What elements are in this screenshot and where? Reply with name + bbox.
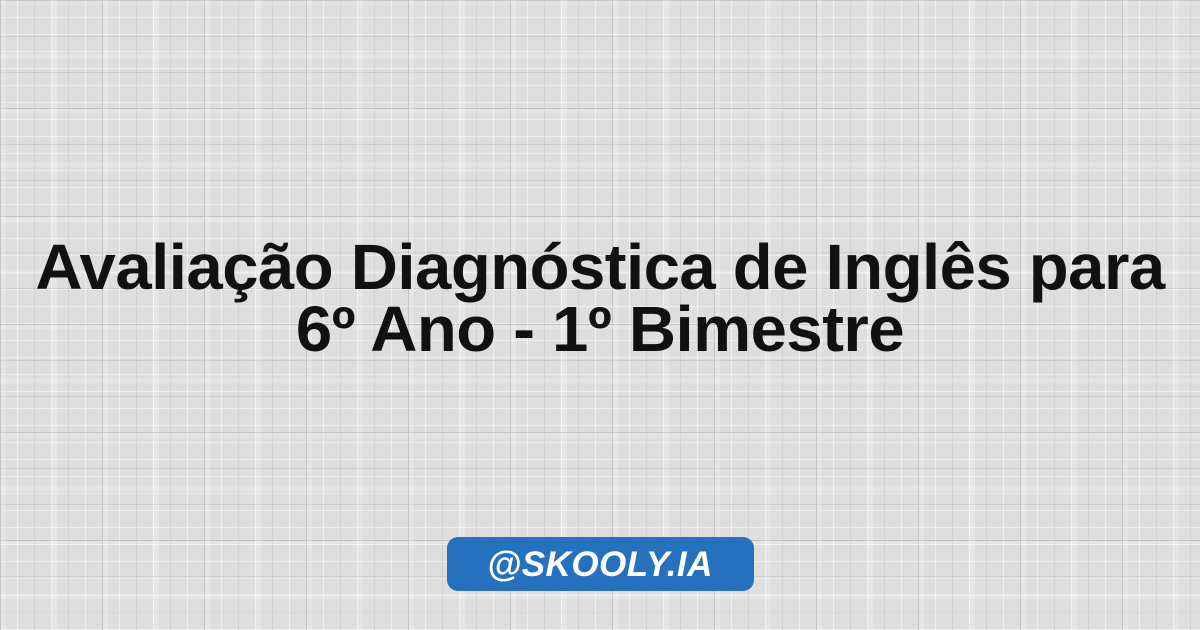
page-title: Avaliação Diagnóstica de Inglês para 6º … [12,236,1187,360]
title-block: Avaliação Diagnóstica de Inglês para 6º … [0,236,1200,360]
poster-content: Avaliação Diagnóstica de Inglês para 6º … [0,0,1200,630]
poster-canvas: Avaliação Diagnóstica de Inglês para 6º … [0,0,1200,630]
badge-container: @SKOOLY.IA [0,537,1200,591]
brand-handle-badge[interactable]: @SKOOLY.IA [447,537,754,591]
